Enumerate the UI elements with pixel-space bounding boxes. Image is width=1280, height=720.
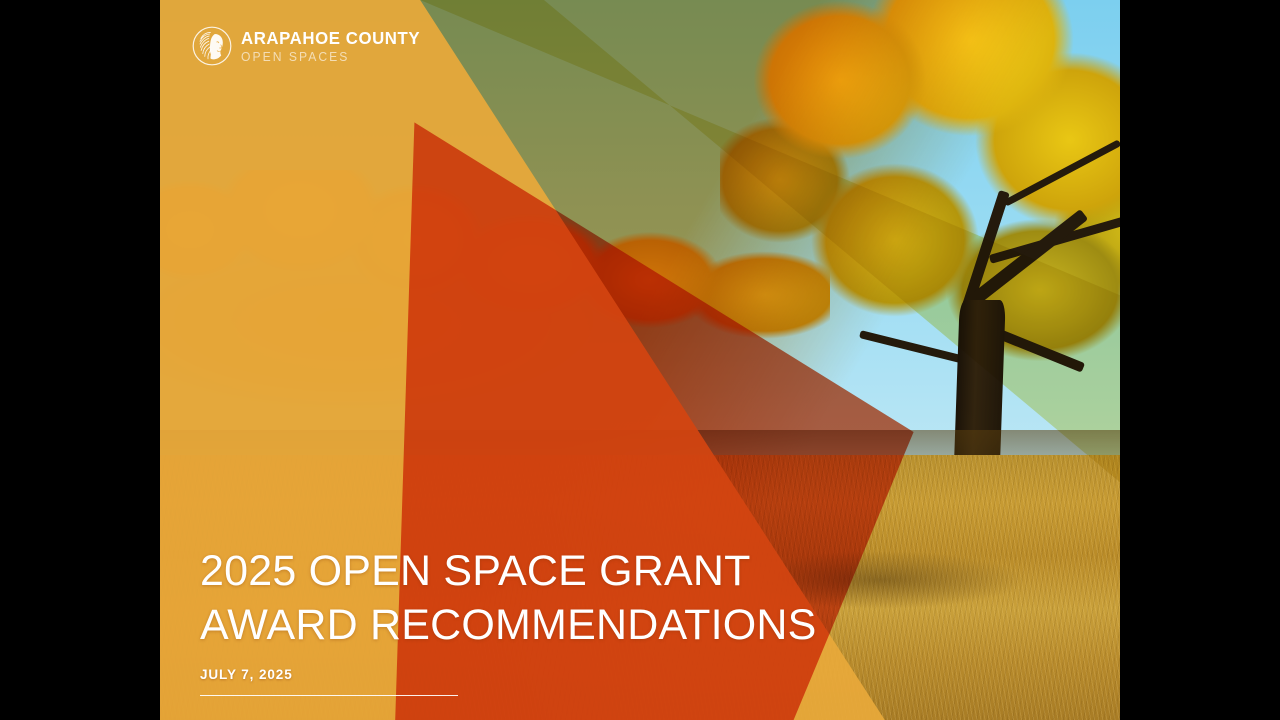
logo-lockup: ARAPAHOE COUNTY OPEN SPACES bbox=[192, 26, 428, 66]
letterbox-right bbox=[1120, 0, 1280, 720]
title-block: 2025 OPEN SPACE GRANT AWARD RECOMMENDATI… bbox=[200, 544, 900, 696]
slide-title-line-1: 2025 OPEN SPACE GRANT bbox=[200, 544, 900, 599]
title-divider-rule bbox=[200, 695, 458, 696]
logo-organization-name: ARAPAHOE COUNTY bbox=[241, 30, 420, 48]
slide-stage: ARAPAHOE COUNTY OPEN SPACES 2025 OPEN SP… bbox=[0, 0, 1280, 720]
slide-date: JULY 7, 2025 bbox=[200, 667, 900, 682]
letterbox-left bbox=[0, 0, 160, 720]
slide-canvas: ARAPAHOE COUNTY OPEN SPACES 2025 OPEN SP… bbox=[160, 0, 1120, 720]
slide-title-line-2: AWARD RECOMMENDATIONS bbox=[200, 598, 900, 653]
slide-content: ARAPAHOE COUNTY OPEN SPACES 2025 OPEN SP… bbox=[160, 0, 1120, 720]
logo-department-name: OPEN SPACES bbox=[241, 51, 422, 64]
arapahoe-county-chief-profile-emblem-icon bbox=[192, 26, 232, 66]
logo-text-block: ARAPAHOE COUNTY OPEN SPACES bbox=[241, 29, 428, 63]
